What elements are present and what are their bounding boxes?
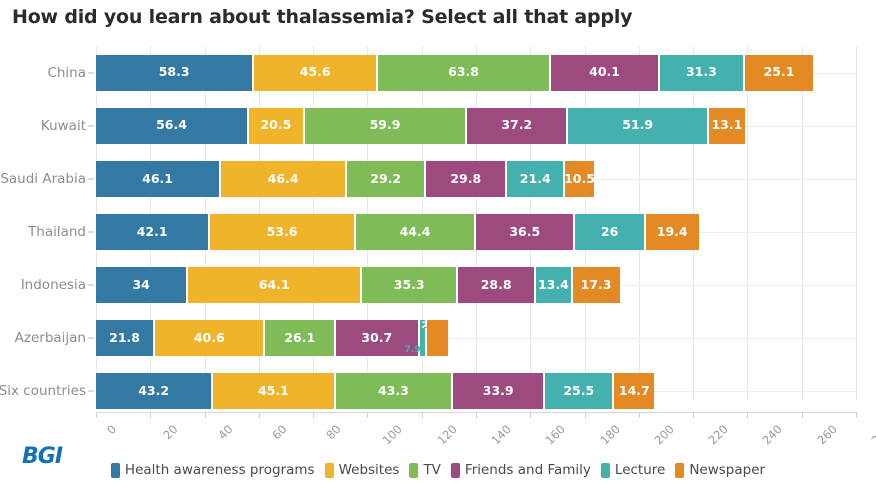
chart-row: Kuwait56.420.559.937.251.913.1: [0, 103, 876, 149]
legend-item[interactable]: Newspaper: [675, 462, 765, 478]
legend-item[interactable]: Health awareness programs: [111, 462, 315, 478]
bar-segment[interactable]: 31.3: [660, 55, 745, 91]
y-axis-label-thailand: Thailand: [0, 224, 86, 240]
x-axis-tick-label: 260: [814, 422, 839, 447]
bar-value-label: 19.4: [657, 226, 688, 239]
y-axis-tick: [88, 285, 94, 286]
bar-segment[interactable]: 35.3: [362, 267, 458, 303]
x-axis-tick-label: 80: [323, 422, 343, 442]
bar-value-label: 25.5: [563, 385, 594, 398]
bar-segment[interactable]: 26.1: [265, 320, 336, 356]
bar-segment[interactable]: 40.6: [155, 320, 265, 356]
legend-label: Friends and Family: [465, 462, 591, 478]
legend-swatch-icon: [325, 463, 334, 478]
bar-segment[interactable]: 37.2: [467, 108, 568, 144]
bar-value-label: 44.4: [400, 226, 431, 239]
bar-segment[interactable]: 14.7: [614, 373, 654, 409]
bar-segment[interactable]: 26: [575, 214, 646, 250]
x-axis-tick: [639, 412, 640, 418]
bar-segment[interactable]: 29.8: [426, 161, 507, 197]
bar-value-label: 53.6: [267, 226, 298, 239]
y-axis-label-kuwait: Kuwait: [0, 118, 86, 134]
chart-row: Azerbaijan21.840.626.130.72.67.9: [0, 315, 876, 361]
y-axis-tick: [88, 125, 94, 126]
stacked-bar: 56.420.559.937.251.913.1: [96, 108, 745, 144]
plot-area: China58.345.663.840.131.325.1Kuwait56.42…: [0, 46, 876, 418]
bar-segment[interactable]: 7.9: [427, 320, 448, 356]
x-axis-tick: [313, 412, 314, 418]
bar-segment[interactable]: 45.1: [213, 373, 335, 409]
chart-row: Thailand42.153.644.436.52619.4: [0, 209, 876, 255]
x-axis-tick-label: 0: [104, 422, 119, 437]
legend-label: TV: [423, 462, 440, 478]
y-axis-label-azerbaijan: Azerbaijan: [0, 330, 86, 346]
x-axis-tick: [585, 412, 586, 418]
x-axis-tick: [150, 412, 151, 418]
bar-segment[interactable]: 17.3: [573, 267, 620, 303]
legend-swatch-icon: [675, 463, 684, 478]
x-axis-tick-label: 200: [651, 422, 676, 447]
bar-value-label: 36.5: [509, 226, 540, 239]
x-axis-tick-label: 180: [597, 422, 622, 447]
bar-value-label: 26.1: [284, 332, 315, 345]
bar-value-label: 46.4: [268, 173, 299, 186]
x-axis-tick: [747, 412, 748, 418]
stacked-bar: 58.345.663.840.131.325.1: [96, 55, 813, 91]
bar-value-label: 20.5: [260, 119, 291, 132]
bar-value-label: 33.9: [483, 385, 514, 398]
chart-row: Indonesia3464.135.328.813.417.3: [0, 262, 876, 308]
bar-segment[interactable]: 45.6: [254, 55, 378, 91]
bar-value-label: 51.9: [622, 119, 653, 132]
y-axis-tick: [88, 178, 94, 179]
bar-value-label: 13.4: [538, 279, 569, 292]
legend-label: Websites: [339, 462, 400, 478]
bar-segment[interactable]: 10.5: [565, 161, 594, 197]
x-axis-tick: [693, 412, 694, 418]
y-axis-label-china: China: [0, 65, 86, 81]
legend-label: Health awareness programs: [125, 462, 315, 478]
y-axis-label-indonesia: Indonesia: [0, 277, 86, 293]
chart-row: Six countries43.245.143.333.925.514.7: [0, 368, 876, 414]
bar-segment[interactable]: 19.4: [646, 214, 699, 250]
bar-segment[interactable]: 36.5: [476, 214, 575, 250]
bar-value-label: 29.2: [370, 173, 401, 186]
bar-value-label: 21.8: [109, 332, 140, 345]
y-axis-label-six-countries: Six countries: [0, 383, 86, 399]
x-axis-tick: [259, 412, 260, 418]
bar-value-label: 35.3: [394, 279, 425, 292]
legend-item[interactable]: Websites: [325, 462, 400, 478]
bar-value-label: 59.9: [370, 119, 401, 132]
x-axis-tick: [476, 412, 477, 418]
bar-value-label: 14.7: [619, 385, 650, 398]
bar-segment[interactable]: 58.3: [96, 55, 254, 91]
bar-segment[interactable]: 59.9: [305, 108, 468, 144]
x-axis: 020406080100120140160180200220240260280: [0, 412, 876, 448]
bar-segment[interactable]: 53.6: [210, 214, 355, 250]
x-axis-tick-label: 140: [488, 422, 513, 447]
legend-swatch-icon: [451, 463, 460, 478]
bar-segment[interactable]: 40.1: [551, 55, 660, 91]
bar-value-label: 63.8: [448, 66, 479, 79]
x-axis-tick-label: 120: [434, 422, 459, 447]
y-axis-tick: [88, 232, 94, 233]
bar-segment[interactable]: 21.8: [96, 320, 155, 356]
legend-item[interactable]: Lecture: [601, 462, 665, 478]
bar-segment[interactable]: 43.2: [96, 373, 213, 409]
bar-segment[interactable]: 44.4: [356, 214, 477, 250]
bar-value-label: 29.8: [450, 173, 481, 186]
x-axis-tick-label: 280: [868, 422, 876, 447]
chart-row: China58.345.663.840.131.325.1: [0, 50, 876, 96]
legend-swatch-icon: [409, 463, 418, 478]
stacked-bar: 43.245.143.333.925.514.7: [96, 373, 654, 409]
bar-segment[interactable]: 21.4: [507, 161, 565, 197]
bar-segment[interactable]: 34: [96, 267, 188, 303]
y-axis-tick: [88, 391, 94, 392]
bar-value-label: 45.1: [258, 385, 289, 398]
x-axis-tick: [205, 412, 206, 418]
stacked-bar: 46.146.429.229.821.410.5: [96, 161, 594, 197]
bar-value-label: 56.4: [156, 119, 187, 132]
legend-item[interactable]: Friends and Family: [451, 462, 591, 478]
bar-segment[interactable]: 28.8: [458, 267, 536, 303]
legend-item[interactable]: TV: [409, 462, 440, 478]
bar-value-label: 26: [601, 226, 618, 239]
x-axis-tick-label: 100: [380, 422, 405, 447]
x-axis-tick-label: 60: [269, 422, 289, 442]
x-axis-tick: [96, 412, 97, 418]
chart-row: Saudi Arabia46.146.429.229.821.410.5: [0, 156, 876, 202]
bar-segment[interactable]: 25.5: [545, 373, 614, 409]
bar-value-label: 42.1: [137, 226, 168, 239]
bar-segment[interactable]: 29.2: [347, 161, 426, 197]
x-axis-tick: [422, 412, 423, 418]
stacked-bar: 3464.135.328.813.417.3: [96, 267, 620, 303]
bar-value-label: 17.3: [581, 279, 612, 292]
bar-value-label: 45.6: [300, 66, 331, 79]
bar-value-label: 13.1: [711, 119, 742, 132]
bar-segment[interactable]: 13.4: [536, 267, 572, 303]
bar-segment[interactable]: 51.9: [568, 108, 709, 144]
bar-value-label: 64.1: [259, 279, 290, 292]
bar-value-label: 10.5: [564, 173, 595, 186]
bar-segment[interactable]: 20.5: [249, 108, 305, 144]
bar-segment[interactable]: 13.1: [709, 108, 745, 144]
bar-value-label: 7.9: [405, 346, 421, 355]
x-axis-tick-label: 20: [161, 422, 181, 442]
bar-value-label: 43.3: [378, 385, 409, 398]
bar-value-label: 28.8: [481, 279, 512, 292]
legend-swatch-icon: [111, 463, 120, 478]
x-axis-tick: [856, 412, 857, 418]
bar-value-label: 31.3: [686, 66, 717, 79]
x-axis-tick: [367, 412, 368, 418]
bar-segment[interactable]: 64.1: [188, 267, 362, 303]
stacked-bar: 42.153.644.436.52619.4: [96, 214, 699, 250]
bar-value-label: 43.2: [138, 385, 169, 398]
x-axis-tick: [530, 412, 531, 418]
bar-segment[interactable]: 25.1: [745, 55, 813, 91]
y-axis-tick: [88, 72, 94, 73]
bar-value-label: 40.6: [194, 332, 225, 345]
bar-value-label: 34: [132, 279, 149, 292]
bar-value-label: 21.4: [520, 173, 551, 186]
bar-value-label: 46.1: [142, 173, 173, 186]
y-axis-label-saudi-arabia: Saudi Arabia: [0, 171, 86, 187]
chart-legend: Health awareness programsWebsitesTVFrien…: [0, 462, 876, 478]
x-axis-tick-label: 160: [543, 422, 568, 447]
legend-swatch-icon: [601, 463, 610, 478]
bar-segment[interactable]: 46.1: [96, 161, 221, 197]
legend-label: Newspaper: [689, 462, 765, 478]
bar-segment[interactable]: 2.6: [420, 320, 427, 356]
bar-value-label: 40.1: [589, 66, 620, 79]
legend-label: Lecture: [615, 462, 665, 478]
bar-value-label: 30.7: [361, 332, 392, 345]
x-axis-tick: [802, 412, 803, 418]
bar-segment[interactable]: 63.8: [378, 55, 551, 91]
bar-segment[interactable]: 33.9: [453, 373, 545, 409]
x-axis-tick-label: 240: [760, 422, 785, 447]
y-axis-tick: [88, 338, 94, 339]
bar-value-label: 25.1: [764, 66, 795, 79]
bar-value-label: 58.3: [159, 66, 190, 79]
bar-segment[interactable]: 46.4: [221, 161, 347, 197]
x-axis-tick-label: 40: [215, 422, 235, 442]
x-axis-tick-label: 220: [706, 422, 731, 447]
chart-title: How did you learn about thalassemia? Sel…: [12, 6, 632, 28]
bar-segment[interactable]: 43.3: [336, 373, 454, 409]
bar-value-label: 37.2: [501, 119, 532, 132]
stacked-bar: 21.840.626.130.72.67.9: [96, 320, 448, 356]
bar-segment[interactable]: 42.1: [96, 214, 210, 250]
bar-segment[interactable]: 56.4: [96, 108, 249, 144]
